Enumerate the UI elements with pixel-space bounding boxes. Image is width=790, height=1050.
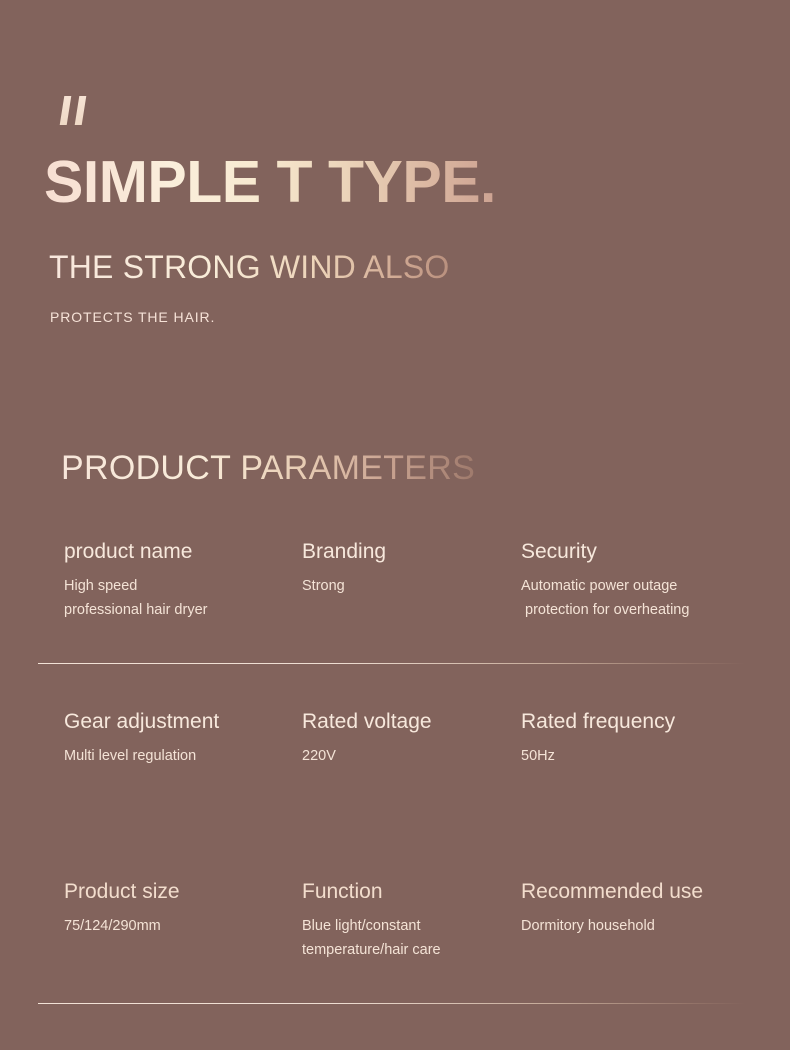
spec-cell-rated-voltage: Rated voltage 220V (302, 710, 516, 769)
spec-value: Automatic power outage protection for ov… (521, 575, 771, 623)
spec-value: 50Hz (521, 745, 771, 769)
spec-value: 220V (302, 745, 516, 769)
spec-value-line: 75/124/290mm (64, 918, 161, 934)
hero-tagline: PROTECTS THE HAIR. (50, 309, 215, 326)
table-row: Gear adjustment Multi level regulation R… (0, 710, 790, 880)
table-row: product name High speed professional hai… (0, 540, 790, 710)
spec-value-line: Dormitory household (521, 918, 655, 934)
spec-value: Strong (302, 575, 516, 599)
spec-label: Rated frequency (521, 710, 771, 734)
double-slash-quote-icon (62, 96, 96, 126)
spec-cell-product-size: Product size 75/124/290mm (64, 880, 296, 939)
spec-value-line: 220V (302, 748, 336, 764)
spec-cell-rated-frequency: Rated frequency 50Hz (521, 710, 771, 769)
spec-value: High speed professional hair dryer (64, 575, 296, 623)
spec-cell-recommended-use: Recommended use Dormitory household (521, 880, 771, 939)
spec-label: Function (302, 880, 516, 904)
spec-value-line: Strong (302, 578, 345, 594)
spec-label: product name (64, 540, 296, 564)
spec-value-line: temperature/hair care (302, 939, 516, 963)
product-parameters-banner: SIMPLE T TYPE. THE STRONG WIND ALSO PROT… (0, 0, 790, 1030)
row-divider (38, 663, 745, 664)
spec-value-line: Blue light/constant (302, 918, 421, 934)
spec-cell-product-name: product name High speed professional hai… (64, 540, 296, 623)
spec-value: Dormitory household (521, 915, 771, 939)
spec-value-line: Automatic power outage (521, 578, 677, 594)
hero-subhead: THE STRONG WIND ALSO (49, 250, 449, 285)
quote-stroke-left (60, 96, 72, 125)
spec-value: Multi level regulation (64, 745, 296, 769)
spec-value-line: protection for overheating (521, 599, 771, 623)
spec-cell-branding: Branding Strong (302, 540, 516, 599)
spec-label: Recommended use (521, 880, 771, 904)
table-row: Product size 75/124/290mm Function Blue … (0, 880, 790, 1050)
spec-cell-function: Function Blue light/constant temperature… (302, 880, 516, 963)
parameters-heading: PRODUCT PARAMETERS (61, 450, 475, 487)
spec-value-line: 50Hz (521, 748, 555, 764)
specifications-table: product name High speed professional hai… (0, 540, 790, 1050)
spec-label: Branding (302, 540, 516, 564)
spec-label: Security (521, 540, 771, 564)
quote-stroke-right (75, 96, 87, 125)
spec-cell-security: Security Automatic power outage protecti… (521, 540, 771, 623)
spec-label: Rated voltage (302, 710, 516, 734)
spec-value-line: High speed (64, 578, 137, 594)
spec-label: Product size (64, 880, 296, 904)
spec-value-line: professional hair dryer (64, 599, 296, 623)
spec-value-line: Multi level regulation (64, 748, 196, 764)
spec-value: Blue light/constant temperature/hair car… (302, 915, 516, 963)
spec-cell-gear-adjustment: Gear adjustment Multi level regulation (64, 710, 296, 769)
page-title: SIMPLE T TYPE. (44, 152, 496, 212)
spec-label: Gear adjustment (64, 710, 296, 734)
spec-value: 75/124/290mm (64, 915, 296, 939)
